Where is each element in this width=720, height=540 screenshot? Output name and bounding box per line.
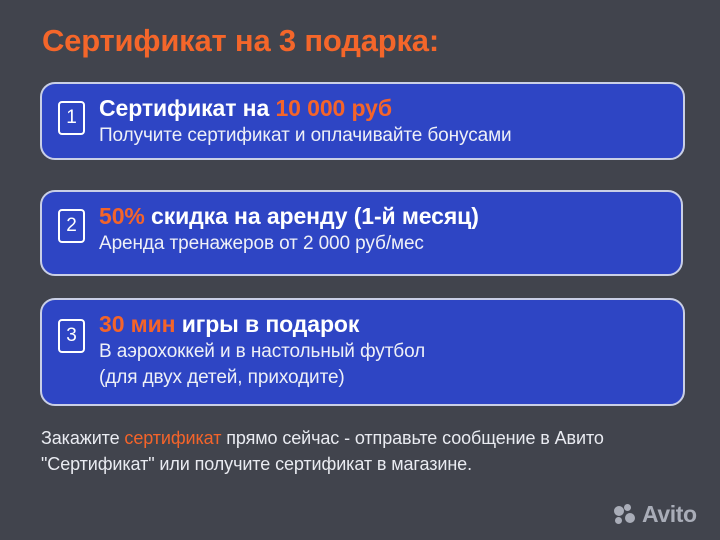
offer-card-body: 30 мин игры в подарок В аэрохоккей и в н… bbox=[99, 310, 669, 390]
offer-title: 50% скидка на аренду (1-й месяц) bbox=[99, 202, 667, 230]
offer-title: Сертификат на 10 000 руб bbox=[99, 94, 669, 122]
offer-subtitle-line-1: Аренда тренажеров от 2 000 руб/мес bbox=[99, 231, 667, 256]
offer-card-1: 1 Сертификат на 10 000 руб Получите серт… bbox=[40, 82, 685, 160]
offer-title-accent: 30 мин bbox=[99, 311, 175, 337]
avito-wordmark: Avito bbox=[642, 503, 697, 526]
promo-banner: Сертификат на 3 подарка: 1 Сертификат на… bbox=[0, 0, 720, 540]
offer-title: 30 мин игры в подарок bbox=[99, 310, 669, 338]
offer-card-3: 3 30 мин игры в подарок В аэрохоккей и в… bbox=[40, 298, 685, 406]
call-to-action-note: Закажите сертификат прямо сейчас - отпра… bbox=[41, 425, 691, 477]
offer-title-accent: 10 000 руб bbox=[275, 95, 391, 121]
offer-subtitle-line-2: (для двух детей, приходите) bbox=[99, 365, 669, 390]
offer-subtitle-line-1: Получите сертификат и оплачивайте бонуса… bbox=[99, 123, 669, 148]
offer-card-body: 50% скидка на аренду (1-й месяц) Аренда … bbox=[99, 202, 667, 256]
avito-logo: Avito bbox=[614, 503, 697, 526]
note-accent-word: сертификат bbox=[124, 428, 221, 448]
offer-title-text-after: скидка на аренду (1-й месяц) bbox=[145, 203, 479, 229]
offer-title-text-before: Сертификат на bbox=[99, 95, 275, 121]
page-title: Сертификат на 3 подарка: bbox=[42, 23, 439, 59]
offer-card-body: Сертификат на 10 000 руб Получите сертиф… bbox=[99, 94, 669, 148]
offer-number-badge: 2 bbox=[58, 209, 85, 243]
note-text-part-1: Закажите bbox=[41, 428, 124, 448]
offer-title-accent: 50% bbox=[99, 203, 145, 229]
avito-dots-icon bbox=[614, 504, 638, 526]
offer-number-badge: 3 bbox=[58, 319, 85, 353]
offer-number-badge: 1 bbox=[58, 101, 85, 135]
offer-title-text-after: игры в подарок bbox=[175, 311, 359, 337]
offer-card-2: 2 50% скидка на аренду (1-й месяц) Аренд… bbox=[40, 190, 683, 276]
offer-subtitle-line-1: В аэрохоккей и в настольный футбол bbox=[99, 339, 669, 364]
